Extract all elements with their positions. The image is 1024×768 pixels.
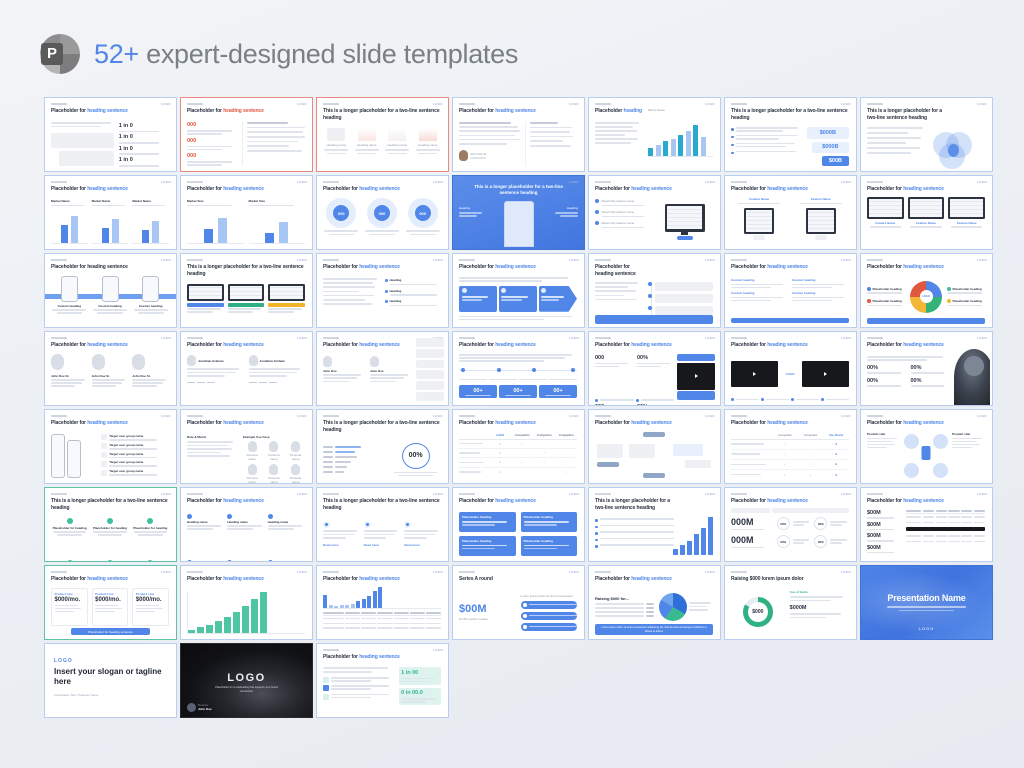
slide-thumbnail[interactable]: LOGO Placeholder for heading sentence Jo… bbox=[452, 97, 585, 172]
stat-value: $000B bbox=[822, 144, 838, 150]
stat-value: 00% bbox=[637, 355, 674, 361]
slide-thumbnail[interactable]: LOGO Placeholder for heading sentence 00… bbox=[860, 331, 993, 406]
slide-title: This is a longer placeholder for a two-l… bbox=[323, 108, 440, 121]
caption: Heading name bbox=[357, 143, 377, 147]
slide-title: This is a longer placeholder for a two-l… bbox=[731, 108, 848, 121]
stat-value: 00% bbox=[867, 378, 907, 384]
eyebrow bbox=[459, 337, 475, 339]
avatar bbox=[249, 355, 258, 366]
logo-mark: LOGO bbox=[297, 258, 307, 262]
slide-body: $00M $00M $00M $00M bbox=[867, 510, 985, 556]
eyebrow bbox=[187, 571, 203, 573]
slide-thumbnail[interactable]: LOGO Placeholder for a subheading that s… bbox=[180, 643, 313, 718]
slide-thumbnail[interactable]: LOGO Placeholder for heading sentence Fe… bbox=[724, 175, 857, 250]
card-title: Placeholder heading bbox=[524, 539, 575, 543]
column-header: Feature Name bbox=[749, 197, 769, 201]
eyebrow bbox=[595, 259, 611, 261]
label: Placeholder heading bbox=[953, 287, 982, 291]
stat-value: $00M bbox=[867, 522, 903, 528]
caption: Custom heading bbox=[139, 304, 163, 308]
eyebrow bbox=[731, 337, 747, 339]
slide-thumbnail[interactable]: LOGO Placeholder for heading sentence Pl… bbox=[452, 487, 585, 562]
column-header: Feature Name bbox=[811, 197, 831, 201]
stat-value: $00M bbox=[867, 533, 903, 539]
list-item: Target user group name bbox=[109, 460, 169, 464]
slide-thumbnail-grid: LOGO Placeholder for heading sentence 1 … bbox=[44, 97, 982, 718]
slide-thumbnail[interactable]: LOGO This is a longer placeholder for a … bbox=[452, 175, 585, 250]
column-header: Product Line bbox=[136, 592, 166, 596]
slide-thumbnail[interactable]: LOGO Placeholder for heading sentence Ma… bbox=[44, 175, 177, 250]
eyebrow bbox=[51, 181, 67, 183]
slide-thumbnail[interactable]: LOGO Placeholder for heading sentence Ma… bbox=[180, 175, 313, 250]
slide-title: Placeholder for heading sentence bbox=[323, 186, 440, 193]
eyebrow bbox=[459, 415, 475, 417]
eyebrow bbox=[51, 493, 67, 495]
pie-chart bbox=[659, 593, 713, 621]
slide-thumbnail[interactable]: LOGO Placeholder for heading sentence LO… bbox=[724, 331, 857, 406]
stat-value: 1 in 00 bbox=[401, 670, 438, 676]
slide-body: Market Name Market Name Market Name bbox=[51, 199, 169, 244]
slide-thumbnail[interactable]: LOGO Placeholder for heading sentence 00… bbox=[588, 331, 721, 406]
slide-title: Placeholder for heading sentence bbox=[731, 186, 848, 193]
slide-title: This is a longer placeholder for a two-l… bbox=[323, 420, 440, 433]
table-row: ✓✓✓– bbox=[459, 458, 577, 467]
eyebrow bbox=[731, 571, 747, 573]
logo-mark: LOGO bbox=[841, 258, 851, 262]
slide-title: Placeholder for heading sentence bbox=[459, 108, 576, 115]
slide-body: John Doe Sr. John Doe Sr. John Doe Sr. bbox=[51, 354, 169, 400]
slide-thumbnail[interactable]: LOGO Placeholder for heading sentence 00… bbox=[180, 97, 313, 172]
slide-body: Custom heading Custom heading Custom hea… bbox=[731, 278, 849, 317]
slide-thumbnail[interactable]: LOGO This is a longer placeholder for a … bbox=[316, 409, 449, 484]
stat-value: 1 in 0 bbox=[119, 157, 169, 163]
slide-title: Placeholder for heading sentence bbox=[595, 264, 640, 277]
logo-mark: LOGO bbox=[841, 570, 851, 574]
stat-value: 00% bbox=[911, 378, 951, 384]
label: Placeholder heading bbox=[873, 287, 902, 291]
logo-mark: LOGO bbox=[161, 102, 171, 106]
logo-mark: LOGO bbox=[433, 180, 443, 184]
logo-mark: LOGO bbox=[433, 492, 443, 496]
caption: Heading name bbox=[187, 520, 224, 524]
slide-body: Note & Metric Example Use Case Persona n… bbox=[187, 435, 305, 478]
logo-mark: LOGO bbox=[297, 570, 307, 574]
eyebrow bbox=[51, 337, 67, 339]
slide-body: Market Size Market Size bbox=[187, 199, 305, 244]
powerpoint-icon: P bbox=[40, 34, 80, 74]
tagline: Placeholder for a subheading that suppor… bbox=[211, 686, 282, 693]
slide-title: Placeholder for heading sentence bbox=[459, 264, 576, 271]
column-header: Product side bbox=[867, 432, 900, 436]
org-chart bbox=[595, 432, 713, 478]
column-header: Market Size bbox=[249, 199, 306, 203]
link[interactable]: Read more bbox=[404, 543, 441, 547]
eyebrow bbox=[731, 259, 747, 261]
slide-title: Placeholder for heading sentence bbox=[595, 342, 674, 349]
slide-title: Placeholder for heading sentence bbox=[867, 420, 984, 427]
slide-title: Placeholder for heading sentence bbox=[459, 342, 576, 349]
portrait-photo bbox=[950, 348, 990, 405]
slide-thumbnail[interactable]: LOGO Placeholder for heading sentence He… bbox=[316, 253, 449, 328]
slide-body: John Doe Sr. bbox=[459, 122, 577, 166]
slide-title: Placeholder for heading sentence bbox=[459, 420, 576, 427]
column-header: Product Line bbox=[55, 592, 85, 596]
cta-button-label[interactable]: Placeholder for heading sentence bbox=[88, 630, 133, 634]
slide-body: Read Only feature name Read Only feature… bbox=[595, 199, 713, 244]
stat-value: $00M bbox=[459, 603, 516, 615]
table-row: ✓––✓ bbox=[459, 468, 577, 476]
growth-bar-chart bbox=[673, 517, 715, 555]
logo-mark: LOGO bbox=[433, 414, 443, 418]
column-header: Market Name bbox=[92, 199, 129, 203]
logo-mark: LOGO bbox=[841, 414, 851, 418]
logo-mark: LOGO bbox=[297, 414, 307, 418]
card-title: Placeholder heading bbox=[524, 515, 575, 519]
stat-value: $00M bbox=[867, 510, 903, 516]
eyebrow bbox=[867, 337, 883, 339]
logo-mark: LOGO bbox=[297, 336, 307, 340]
slide-thumbnail[interactable]: LOGO Placeholder for heading sentence Jo… bbox=[180, 331, 313, 406]
slide-thumbnail[interactable]: LOGO Placeholder for heading sentence bbox=[588, 409, 721, 484]
slide-thumbnail[interactable]: LOGO Placeholder for heading sentence Jo… bbox=[44, 331, 177, 406]
column-header: Example Use Case bbox=[243, 435, 305, 439]
bubble: 000 bbox=[408, 198, 438, 228]
slide-body: 1 in 00 0 in 00.0 bbox=[323, 667, 441, 712]
slide-title: Placeholder for heading sentence bbox=[187, 108, 304, 115]
slide-thumbnail[interactable]: LOGO Placeholder for heading sentence He… bbox=[180, 487, 313, 562]
slide-thumbnail[interactable]: LOGO Placeholder for heading sentence Pl… bbox=[860, 253, 993, 328]
logo-mark: LOGO bbox=[841, 180, 851, 184]
slide-thumbnail[interactable]: LOGO Placeholder for heading sentence bbox=[452, 253, 585, 328]
timeline bbox=[459, 368, 577, 378]
logo-mark: LOGO bbox=[705, 336, 715, 340]
slide-body: Competitor Competitor Our Brand ○○● ○○● … bbox=[731, 433, 849, 478]
cover-title: Presentation Name bbox=[861, 593, 992, 603]
slide-thumbnail[interactable]: LOGO Placeholder for heading sentence Re… bbox=[588, 175, 721, 250]
slide-thumbnail[interactable]: LOGO Series A round $00M for 00 months r… bbox=[452, 565, 585, 640]
slide-thumbnail[interactable]: Presentation Name LOGO bbox=[860, 565, 993, 640]
price: $000/mo. bbox=[55, 597, 85, 603]
slide-thumbnail[interactable]: LOGO Placeholder for heading sentence Cu… bbox=[724, 253, 857, 328]
slide-thumbnail[interactable]: LOGO This is a longer placeholder for a … bbox=[44, 487, 177, 562]
footer-note: Lorem ipsum dolor sit amet consectetur a… bbox=[598, 626, 710, 633]
column-header: Market Name bbox=[132, 199, 169, 203]
slide-thumbnail[interactable]: LOGO Placeholder for heading sentence 00… bbox=[452, 331, 585, 406]
slide-body: Heading name Heading name Heading name H… bbox=[187, 514, 305, 556]
eyebrow bbox=[731, 103, 747, 105]
stat-circle: 00% bbox=[402, 443, 430, 469]
donut-center-value: $000 bbox=[748, 602, 768, 622]
column-header: Our Brand bbox=[823, 433, 849, 437]
eyebrow bbox=[51, 259, 67, 261]
slide-body: Feature Name Feature Name Feature Name bbox=[867, 197, 985, 244]
logo-mark: LOGO bbox=[161, 570, 171, 574]
column-header: Feature Name bbox=[916, 221, 936, 225]
eyebrow bbox=[187, 259, 203, 261]
slide-body: Heading name Heading name Heading name H… bbox=[323, 128, 441, 166]
slide-body bbox=[595, 518, 674, 556]
video-panel bbox=[802, 361, 849, 387]
template-count: 52+ bbox=[94, 39, 139, 69]
stat-value: 000 bbox=[187, 153, 237, 159]
eyebrow bbox=[323, 493, 339, 495]
slide-thumbnail[interactable]: LOGO Raising $000 lorem ipsum dolor $000… bbox=[724, 565, 857, 640]
avatar bbox=[92, 354, 105, 370]
logo-mark: LOGO bbox=[569, 570, 579, 574]
eyebrow bbox=[595, 571, 611, 573]
slide-thumbnail[interactable]: LOGO Placeholder for heading sentence 1 … bbox=[44, 97, 177, 172]
logo-mark: LOGO bbox=[161, 492, 171, 496]
slide-thumbnail[interactable]: LOGO This is a longer placeholder for a … bbox=[316, 97, 449, 172]
logo-row bbox=[731, 398, 849, 401]
slide-thumbnail[interactable]: LOGO Placeholder for heading sentence bbox=[588, 253, 721, 328]
slide-title: Placeholder for heading sentence bbox=[51, 420, 168, 427]
slide-title: Placeholder for heading sentence bbox=[731, 498, 848, 505]
slide-body: 000 000 000 bbox=[187, 122, 305, 166]
slide-body: 000 00% 000 00% bbox=[595, 355, 674, 400]
donut: 00% bbox=[814, 517, 827, 530]
page-title: 52+ expert-designed slide templates bbox=[94, 39, 518, 70]
logo-mark: LOGO bbox=[861, 626, 992, 631]
page-title-text: expert-designed slide templates bbox=[146, 39, 518, 69]
slide-body: Read more Read more Read more bbox=[323, 521, 441, 556]
card-title: Custom heading bbox=[792, 291, 849, 295]
stat-value: 00+ bbox=[513, 388, 522, 394]
center-logo: LOGO bbox=[783, 372, 797, 376]
logo-mark: LOGO bbox=[977, 336, 987, 340]
eyebrow bbox=[323, 571, 339, 573]
logo-mark: LOGO bbox=[705, 492, 715, 496]
avatar bbox=[370, 356, 379, 367]
person-name: John Doe Sr. bbox=[132, 374, 169, 378]
slide-thumbnail[interactable]: LOGO Placeholder for heading sentence bbox=[316, 565, 449, 640]
horizontal-bar-chart bbox=[323, 446, 385, 474]
slide-thumbnail[interactable]: LOGO Placeholder for heading sentence No… bbox=[180, 409, 313, 484]
logo-mark: LOGO bbox=[433, 258, 443, 262]
slide-thumbnail[interactable]: LOGO Placeholder for heading sentence 00… bbox=[724, 487, 857, 562]
person-name: John Doe Sr. bbox=[92, 374, 129, 378]
eyebrow bbox=[323, 415, 339, 417]
slide-body: Raising $000 for... bbox=[595, 588, 713, 625]
eyebrow bbox=[323, 259, 339, 261]
slide-thumbnail[interactable]: LOGO This is a longer placeholder for a … bbox=[860, 97, 993, 172]
slide-title: Placeholder for heading sentence bbox=[867, 342, 958, 349]
slide-thumbnail[interactable]: LOGO Placeholder for heading sentence 1 … bbox=[316, 643, 449, 718]
caption: Heading name bbox=[268, 520, 305, 524]
slide-body: Heading Heading Heading bbox=[323, 278, 441, 322]
slide-body: LOGO bbox=[731, 354, 849, 393]
slide-body: Metric Name bbox=[595, 122, 713, 166]
eyebrow bbox=[187, 103, 203, 105]
slide-body bbox=[867, 127, 985, 166]
slide-title: Placeholder for heading sentence bbox=[731, 420, 848, 427]
waterfall-chart bbox=[323, 586, 441, 609]
arrow-process bbox=[459, 286, 577, 312]
logo-mark: LOGO bbox=[181, 672, 312, 684]
growth-bar-chart bbox=[187, 592, 305, 634]
eyebrow bbox=[323, 337, 339, 339]
caption: Heading name bbox=[227, 520, 264, 524]
slide-body bbox=[595, 282, 713, 322]
slide-body bbox=[187, 592, 305, 634]
column-header: Market Name bbox=[51, 199, 88, 203]
table-row: ○○● bbox=[731, 440, 849, 450]
person-name: Jonathan Graham bbox=[260, 359, 286, 363]
slide-title: Placeholder for heading sentence bbox=[459, 498, 576, 505]
product-map bbox=[904, 432, 948, 478]
column-header: Product side bbox=[952, 432, 985, 436]
logo-mark: LOGO bbox=[161, 336, 171, 340]
eyebrow bbox=[323, 649, 339, 651]
avatar bbox=[132, 354, 145, 370]
slide-title: This is a longer placeholder for a two-l… bbox=[187, 264, 304, 277]
slide-title: Placeholder for heading sentence bbox=[323, 264, 440, 271]
slide-body: 000 000 000 bbox=[323, 198, 441, 244]
link[interactable]: Read more bbox=[364, 543, 401, 547]
slide-title: Placeholder for heading sentence bbox=[323, 342, 410, 349]
logo-mark: LOGO bbox=[433, 570, 443, 574]
person-name: John Doe Sr. bbox=[470, 152, 487, 156]
logo-mark: LOGO bbox=[161, 258, 171, 262]
slide-thumbnail[interactable]: LOGO Placeholder for heading sentence Pr… bbox=[44, 565, 177, 640]
link[interactable]: Read more bbox=[323, 543, 360, 547]
eyebrow bbox=[731, 493, 747, 495]
slide-thumbnail[interactable]: LOGO Insert your slogan or tagline here … bbox=[44, 643, 177, 718]
slide-thumbnail[interactable]: LOGO This is a longer placeholder for a … bbox=[588, 487, 721, 562]
eyebrow bbox=[187, 415, 203, 417]
slide-thumbnail[interactable]: LOGO Placeholder for heading sentence 00… bbox=[316, 175, 449, 250]
slogan-text: Insert your slogan or tagline here bbox=[54, 667, 164, 687]
slide-thumbnail[interactable]: LOGO Placeholder for heading sentence $0… bbox=[860, 487, 993, 562]
slide-body: 00% bbox=[323, 441, 441, 478]
logo-mark: LOGO bbox=[569, 492, 579, 496]
slide-thumbnail[interactable]: LOGO This is a longer placeholder for a … bbox=[724, 97, 857, 172]
slide-body: LOGO Competitor Competitor Competitor ✓✓… bbox=[459, 433, 577, 478]
slide-body: 00+ 00+ 00+ bbox=[459, 354, 577, 398]
donut-chart: $000 bbox=[743, 597, 773, 627]
eyebrow bbox=[595, 415, 611, 417]
slide-thumbnail[interactable]: LOGO Placeholder for heading sentence bbox=[180, 565, 313, 640]
eyebrow bbox=[459, 493, 475, 495]
slide-title: Placeholder for heading sentence bbox=[867, 186, 984, 193]
list-item: Target user group name bbox=[109, 469, 169, 473]
page-header: P 52+ expert-designed slide templates bbox=[0, 0, 1024, 78]
column-header: LOGO bbox=[490, 433, 511, 437]
caption: Placeholder for heading bbox=[93, 526, 127, 530]
avatar bbox=[459, 150, 468, 161]
slide-body: Placeholder heading Placeholder heading … bbox=[867, 276, 985, 317]
table-row: ◐○● bbox=[731, 460, 849, 470]
price: $000/mo. bbox=[95, 597, 125, 603]
slide-title: Placeholder for heading sentence bbox=[323, 654, 440, 661]
slide-title: Placeholder for heading sentence bbox=[51, 342, 168, 349]
footnote: Presentation Title | Presenter Name bbox=[54, 693, 98, 697]
slide-thumbnail[interactable]: LOGO This is a longer placeholder for a … bbox=[316, 487, 449, 562]
slide-thumbnail[interactable]: LOGO Placeholder for heading sentence Ra… bbox=[588, 565, 721, 640]
card-title: Custom heading bbox=[792, 278, 849, 282]
slide-body: 1 in 0 1 in 0 1 in 0 1 in 0 bbox=[51, 122, 169, 166]
logo-mark: LOGO bbox=[977, 180, 987, 184]
column-header: Competitor bbox=[772, 433, 798, 437]
slide-title: Placeholder for heading sentence bbox=[323, 576, 440, 583]
column-header: Product Line bbox=[95, 592, 125, 596]
table-row: ✓–✓– bbox=[459, 449, 577, 458]
chart-title: Metric Name bbox=[648, 108, 713, 112]
eyebrow bbox=[187, 337, 203, 339]
monitor-mockup bbox=[657, 199, 714, 244]
slide-thumbnail[interactable]: LOGO This is a longer placeholder for a … bbox=[180, 253, 313, 328]
column-header: Feature Name bbox=[957, 221, 977, 225]
donut: 00% bbox=[777, 517, 790, 530]
column-header: Feature Name bbox=[875, 221, 895, 225]
caption: Heading name bbox=[418, 143, 438, 147]
slide-body: Custom heading Custom heading Custom hea… bbox=[51, 276, 169, 322]
person-name: John Doe Sr. bbox=[51, 374, 88, 378]
slide-title: Placeholder for heading sentence bbox=[51, 108, 168, 115]
slide-thumbnail[interactable]: LOGO Placeholder heading Metric Name bbox=[588, 97, 721, 172]
bar-chart bbox=[648, 113, 713, 157]
venn-diagram bbox=[931, 127, 985, 166]
logo-mark: LOGO bbox=[705, 414, 715, 418]
stat-value: 000 bbox=[419, 211, 426, 216]
slide-thumbnail[interactable]: LOGO Placeholder for heading sentence Co… bbox=[724, 409, 857, 484]
stat-value: 000 bbox=[187, 138, 237, 144]
column-header: Competitor bbox=[798, 433, 824, 437]
slide-thumbnail[interactable]: LOGO Placeholder for heading sentence Ta… bbox=[44, 409, 177, 484]
slide-thumbnail[interactable]: LOGO Placeholder for heading sentence Jo… bbox=[316, 331, 449, 406]
slide-title: Placeholder for heading sentence bbox=[731, 342, 848, 349]
eyebrow bbox=[595, 103, 611, 105]
slide-body bbox=[187, 284, 305, 322]
feature-label: Read Only feature name bbox=[602, 210, 652, 214]
table-row: ○○● bbox=[731, 450, 849, 460]
slide-body: Jonathan Graham Jonathan Graham bbox=[187, 355, 305, 400]
logo-mark: LOGO bbox=[977, 414, 987, 418]
logo-mark: LOGO bbox=[569, 336, 579, 340]
person-name: John Doe bbox=[198, 707, 212, 711]
slide-thumbnail[interactable]: LOGO Placeholder for heading sentence Fe… bbox=[860, 175, 993, 250]
logo-mark: LOGO bbox=[977, 102, 987, 106]
logo-mark: LOGO bbox=[54, 658, 73, 664]
slide-body: $00M for 00 months runway Lorem ipsum do… bbox=[459, 590, 577, 634]
stat-value: 0 in 00.0 bbox=[401, 690, 438, 696]
stat-value: 00+ bbox=[553, 388, 562, 394]
logo-mark: LOGO bbox=[297, 102, 307, 106]
slide-title: Placeholder for heading sentence bbox=[867, 498, 984, 505]
donut: 00% bbox=[814, 535, 827, 548]
slide-title: Placeholder for heading sentence bbox=[51, 576, 168, 583]
slide-thumbnail[interactable]: LOGO Placeholder for heading sentence LO… bbox=[452, 409, 585, 484]
slide-thumbnail[interactable]: LOGO Placeholder for heading sentence Pr… bbox=[860, 409, 993, 484]
stat-value: 1 in 0 bbox=[119, 123, 169, 129]
stat-subtitle: for 00 months runway bbox=[459, 617, 516, 621]
eyebrow bbox=[51, 103, 67, 105]
slide-title: Placeholder for heading sentence bbox=[187, 186, 304, 193]
list-item: Target user group name bbox=[109, 452, 169, 456]
side-list bbox=[416, 338, 444, 401]
slide-body bbox=[595, 432, 713, 478]
data-table bbox=[906, 510, 985, 556]
slide-thumbnail[interactable]: LOGO Placeholder for heading sentence Cu… bbox=[44, 253, 177, 328]
powerpoint-icon-letter: P bbox=[41, 43, 63, 65]
stat-value: 00% bbox=[911, 365, 951, 371]
secondary-value: $000M bbox=[790, 605, 849, 611]
label: Heading bbox=[552, 206, 578, 210]
stat-value: $000B bbox=[820, 130, 836, 136]
list-item: Target user group name bbox=[109, 443, 169, 447]
slide-title: Placeholder for heading sentence bbox=[595, 576, 712, 583]
slide-title: This is a longer placeholder for a two-l… bbox=[51, 498, 168, 511]
